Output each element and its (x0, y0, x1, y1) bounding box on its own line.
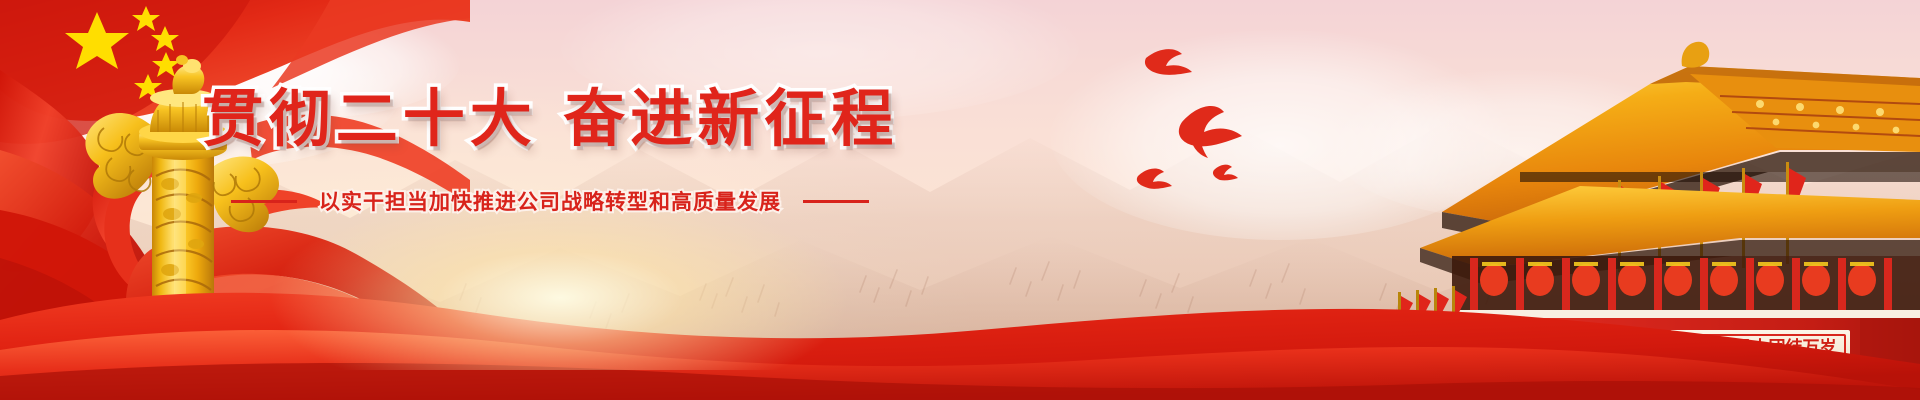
headline-block: 贯彻二十大 奋进新征程 以实干担当加快推进公司战略转型和高质量发展 (0, 88, 1100, 216)
dove-icon (1145, 49, 1192, 75)
dove-icon (1137, 169, 1172, 189)
banner-root: 中华人民共和国万岁 世界人民大团结万岁 (0, 0, 1920, 400)
page-subtitle: 以实干担当加快推进公司战略转型和高质量发展 (319, 186, 781, 216)
red-silk-wave (0, 260, 1920, 400)
rule-right (803, 200, 869, 203)
rule-left (231, 200, 297, 203)
page-title: 贯彻二十大 奋进新征程 (0, 88, 1100, 150)
subtitle-row: 以实干担当加快推进公司战略转型和高质量发展 (0, 186, 1100, 216)
